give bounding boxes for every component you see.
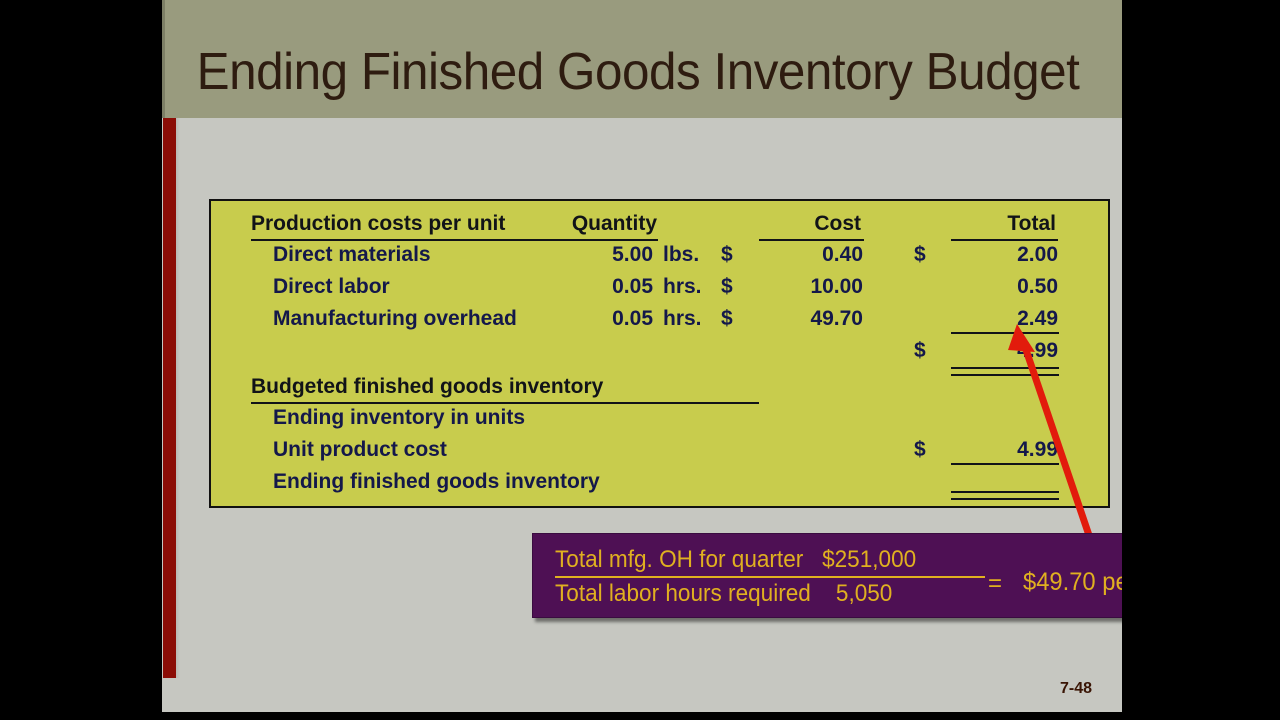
table-header-cost: Cost (751, 213, 861, 234)
row-cost-symbol-direct-materials: $ (721, 244, 733, 265)
row-total-direct-materials: 2.00 (946, 244, 1058, 265)
numerator-value: $251,000 (822, 546, 916, 573)
overhead-rate-callout: Total mfg. OH for quarter $251,000 Total… (532, 533, 1122, 618)
row-quantity-direct-materials: 5.00 (561, 244, 653, 265)
row-label-unit-product-cost: Unit product cost (273, 439, 447, 460)
header-rule-label (251, 239, 607, 241)
fraction-denominator: Total labor hours required 5,050 (555, 580, 969, 608)
row-label-ending-finished-goods-inventory: Ending finished goods inventory (273, 471, 600, 492)
title-band-left-edge (162, 0, 165, 118)
left-accent-stripe (163, 118, 176, 678)
callout-pointer-arrow-icon (1002, 322, 1112, 554)
row-quantity-direct-labor: 0.05 (561, 276, 653, 297)
left-accent-stripe-shadow (176, 118, 180, 678)
screen: Ending Finished Goods Inventory Budget P… (0, 0, 1280, 720)
row-label-direct-materials: Direct materials (273, 244, 431, 265)
row-cost-symbol-manufacturing-overhead: $ (721, 308, 733, 329)
row-unit-direct-materials: lbs. (663, 244, 699, 265)
denominator-value: 5,050 (836, 580, 892, 607)
slide-title-band: Ending Finished Goods Inventory Budget (162, 0, 1122, 118)
row-total-symbol-direct-materials: $ (914, 244, 926, 265)
fraction-bar (555, 576, 985, 578)
numerator-label: Total mfg. OH for quarter (555, 546, 803, 573)
unit-product-cost-symbol: $ (914, 439, 926, 460)
subtotal-symbol: $ (914, 340, 926, 361)
page-number: 7-48 (1060, 680, 1092, 698)
header-rule-total (951, 239, 1058, 241)
row-label-direct-labor: Direct labor (273, 276, 390, 297)
equals-sign: = (988, 570, 1002, 598)
row-unit-direct-labor: hrs. (663, 276, 702, 297)
row-unit-manufacturing-overhead: hrs. (663, 308, 702, 329)
table-header-row-label: Production costs per unit (251, 213, 505, 234)
presentation-slide: Ending Finished Goods Inventory Budget P… (162, 0, 1122, 712)
fraction-numerator: Total mfg. OH for quarter $251,000 (555, 546, 969, 574)
header-rule-quantity (566, 239, 658, 241)
page-title: Ending Finished Goods Inventory Budget (186, 46, 1090, 98)
header-rule-cost (759, 239, 864, 241)
row-cost-manufacturing-overhead: 49.70 (751, 308, 863, 329)
table-header-total: Total (911, 213, 1056, 234)
row-cost-symbol-direct-labor: $ (721, 276, 733, 297)
section-header-budgeted-inventory: Budgeted finished goods inventory (251, 376, 603, 397)
table-header-quantity: Quantity (561, 213, 657, 234)
overhead-rate-fraction: Total mfg. OH for quarter $251,000 Total… (555, 546, 995, 609)
budget-table: Production costs per unit Quantity Cost … (209, 199, 1110, 508)
section-header-rule (251, 402, 759, 404)
denominator-label: Total labor hours required (555, 580, 811, 607)
row-label-ending-inventory-units: Ending inventory in units (273, 407, 525, 428)
row-quantity-manufacturing-overhead: 0.05 (561, 308, 653, 329)
overhead-rate-result: $49.70 per hour* (1023, 568, 1122, 597)
row-cost-direct-materials: 0.40 (751, 244, 863, 265)
row-label-manufacturing-overhead: Manufacturing overhead (273, 308, 517, 329)
row-total-direct-labor: 0.50 (946, 276, 1058, 297)
row-cost-direct-labor: 10.00 (751, 276, 863, 297)
